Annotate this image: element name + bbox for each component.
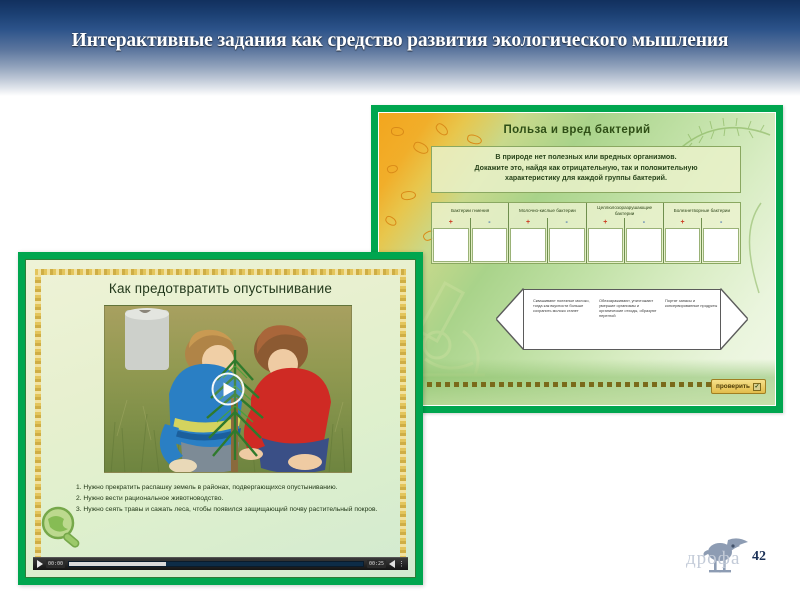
bacteria-group-columns: + - xyxy=(509,218,585,263)
progress-buffer xyxy=(69,562,166,566)
bacteria-group: Молочно-кислые бактерии + - xyxy=(509,203,586,263)
magnifier-globe-icon xyxy=(40,505,86,551)
plus-sign: + xyxy=(664,218,702,228)
bacteria-group: Болезнетворные бактерии + - xyxy=(664,203,740,263)
check-button-label: проверить xyxy=(716,383,750,390)
bacteria-groups-table: Бактерии гниения + - Молочно-кислые бакт xyxy=(431,202,741,264)
publisher-name: дрофа xyxy=(686,548,740,570)
instruction-line-3: характеристику для каждой группы бактери… xyxy=(432,173,740,184)
play-icon[interactable] xyxy=(37,560,43,568)
current-time: 00:00 xyxy=(46,560,65,568)
list-item: 2. Нужно вести рациональное животноводст… xyxy=(76,493,416,504)
bacteria-group: Целлюлозоразрушающие бактерии + - xyxy=(587,203,664,263)
desertification-video-screenshot[interactable]: Как предотвратить опустынивание xyxy=(18,252,423,585)
bacteria-group-label: Целлюлозоразрушающие бактерии xyxy=(587,203,663,218)
play-triangle-icon xyxy=(224,382,236,396)
instruction-line-1: В природе нет полезных или вредных орган… xyxy=(432,152,740,163)
answer-card[interactable]: Портят запасы и консервированные продукт… xyxy=(665,298,723,342)
prevention-measures-list: 1. Нужно прекратить распашку земель в ра… xyxy=(76,482,416,515)
more-options-icon[interactable]: ⋮ xyxy=(398,561,405,568)
instruction-line-2: Докажите это, найдя как отрицательную, т… xyxy=(432,163,740,174)
bacteria-group-columns: + - xyxy=(587,218,663,263)
arrow-head-right-icon xyxy=(720,289,747,349)
answer-card[interactable]: Сквашивают полезные молоко, тогда как вк… xyxy=(533,298,591,342)
bacteria-minus-column[interactable]: - xyxy=(625,218,663,263)
drop-zone[interactable] xyxy=(433,228,469,262)
bacteria-minus-column[interactable]: - xyxy=(702,218,740,263)
video-slide-inner: Как предотвратить опустынивание xyxy=(25,259,416,578)
video-player-controls[interactable]: 00:00 00:25 ⋮ xyxy=(33,557,408,570)
minus-sign: - xyxy=(548,218,586,228)
dashed-divider xyxy=(391,382,763,387)
minus-sign: - xyxy=(702,218,740,228)
plus-sign: + xyxy=(509,218,547,228)
bacteria-group-columns: + - xyxy=(432,218,508,263)
plus-sign: + xyxy=(432,218,470,228)
list-item: 3. Нужно сеять травы и сажать леса, чтоб… xyxy=(76,504,416,515)
video-slide-title: Как предотвратить опустынивание xyxy=(26,281,415,296)
check-button[interactable]: проверить ✓ xyxy=(711,379,766,394)
drop-zone[interactable] xyxy=(588,228,624,262)
bacteria-minus-column[interactable]: - xyxy=(548,218,586,263)
bacteria-slide-inner: Польза и вред бактерий В природе нет пол… xyxy=(378,112,776,406)
drop-zone[interactable] xyxy=(510,228,546,262)
answer-card[interactable]: Обеззараживают, уничтожают умершие орган… xyxy=(599,298,657,342)
drop-zone[interactable] xyxy=(703,228,739,262)
bacteria-plus-column[interactable]: + xyxy=(587,218,626,263)
plus-sign: + xyxy=(587,218,625,228)
bacteria-group-label: Бактерии гниения xyxy=(432,203,508,218)
progress-bar[interactable] xyxy=(68,561,364,567)
bacteria-minus-column[interactable]: - xyxy=(471,218,509,263)
check-mark-icon: ✓ xyxy=(753,383,761,391)
bacteria-instruction: В природе нет полезных или вредных орган… xyxy=(431,146,741,193)
slide-canvas: Интерактивные задания как средство разви… xyxy=(0,0,800,600)
drop-zone[interactable] xyxy=(665,228,701,262)
bacteria-plus-column[interactable]: + xyxy=(432,218,471,263)
bacteria-group-columns: + - xyxy=(664,218,740,263)
drop-zone[interactable] xyxy=(549,228,585,262)
arrow-head-left-icon xyxy=(497,289,524,349)
minus-sign: - xyxy=(471,218,509,228)
play-button[interactable] xyxy=(212,373,245,406)
slide-header: Интерактивные задания как средство разви… xyxy=(0,0,800,96)
bacteria-group: Бактерии гниения + - xyxy=(432,203,509,263)
volume-icon[interactable] xyxy=(389,560,395,568)
video-thumbnail[interactable] xyxy=(104,305,352,473)
bacteria-plus-column[interactable]: + xyxy=(664,218,703,263)
drop-zone[interactable] xyxy=(626,228,662,262)
bacteria-plus-column[interactable]: + xyxy=(509,218,548,263)
minus-sign: - xyxy=(625,218,663,228)
page-title: Интерактивные задания как средство разви… xyxy=(0,30,800,52)
list-item: 1. Нужно прекратить распашку земель в ра… xyxy=(76,482,416,493)
bacteria-group-label: Молочно-кислые бактерии xyxy=(509,203,585,218)
bacteria-task-screenshot[interactable]: Польза и вред бактерий В природе нет пол… xyxy=(371,105,783,413)
page-number: 42 xyxy=(752,549,766,565)
drop-zone[interactable] xyxy=(472,228,508,262)
bacteria-group-label: Болезнетворные бактерии xyxy=(664,203,740,218)
total-time: 00:25 xyxy=(367,560,386,568)
bacteria-slide-title: Польза и вред бактерий xyxy=(379,124,775,136)
answer-arrow-strip: Сквашивают полезные молоко, тогда как вк… xyxy=(497,289,747,350)
